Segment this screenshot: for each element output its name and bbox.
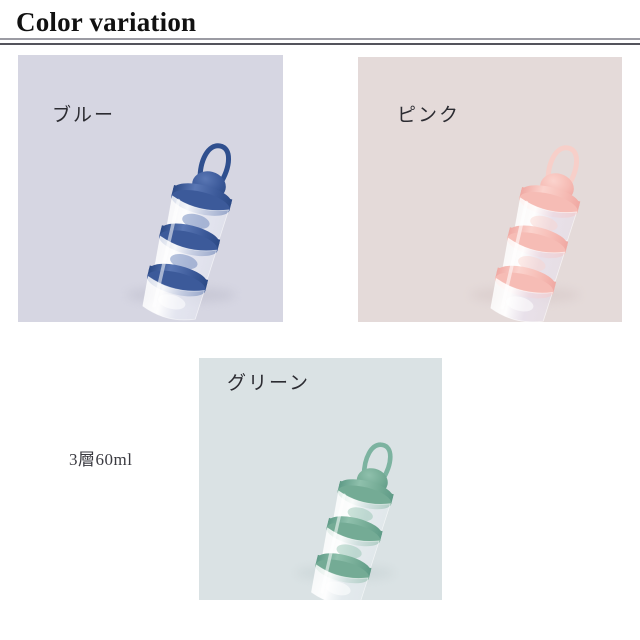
title-rule-lower <box>0 43 640 45</box>
color-swatch-panel-blue[interactable]: ブルー <box>18 55 283 322</box>
color-swatch-label-blue: ブルー <box>52 105 115 127</box>
page-title: Color variation <box>16 7 196 37</box>
color-swatch-label-pink: ピンク <box>397 105 460 127</box>
color-swatch-panel-pink[interactable]: ピンク <box>358 57 622 322</box>
color-swatch-panel-green[interactable]: グリーン <box>199 358 442 600</box>
size-caption: 3層60ml <box>69 450 132 470</box>
product-image-blue <box>115 123 270 322</box>
stacked-formula-dispenser-icon <box>286 423 429 600</box>
color-swatch-label-green: グリーン <box>227 373 310 395</box>
stacked-formula-dispenser-icon <box>115 123 270 322</box>
product-image-green <box>286 423 429 600</box>
stacked-formula-dispenser-icon <box>463 125 618 322</box>
product-image-pink <box>463 125 618 322</box>
